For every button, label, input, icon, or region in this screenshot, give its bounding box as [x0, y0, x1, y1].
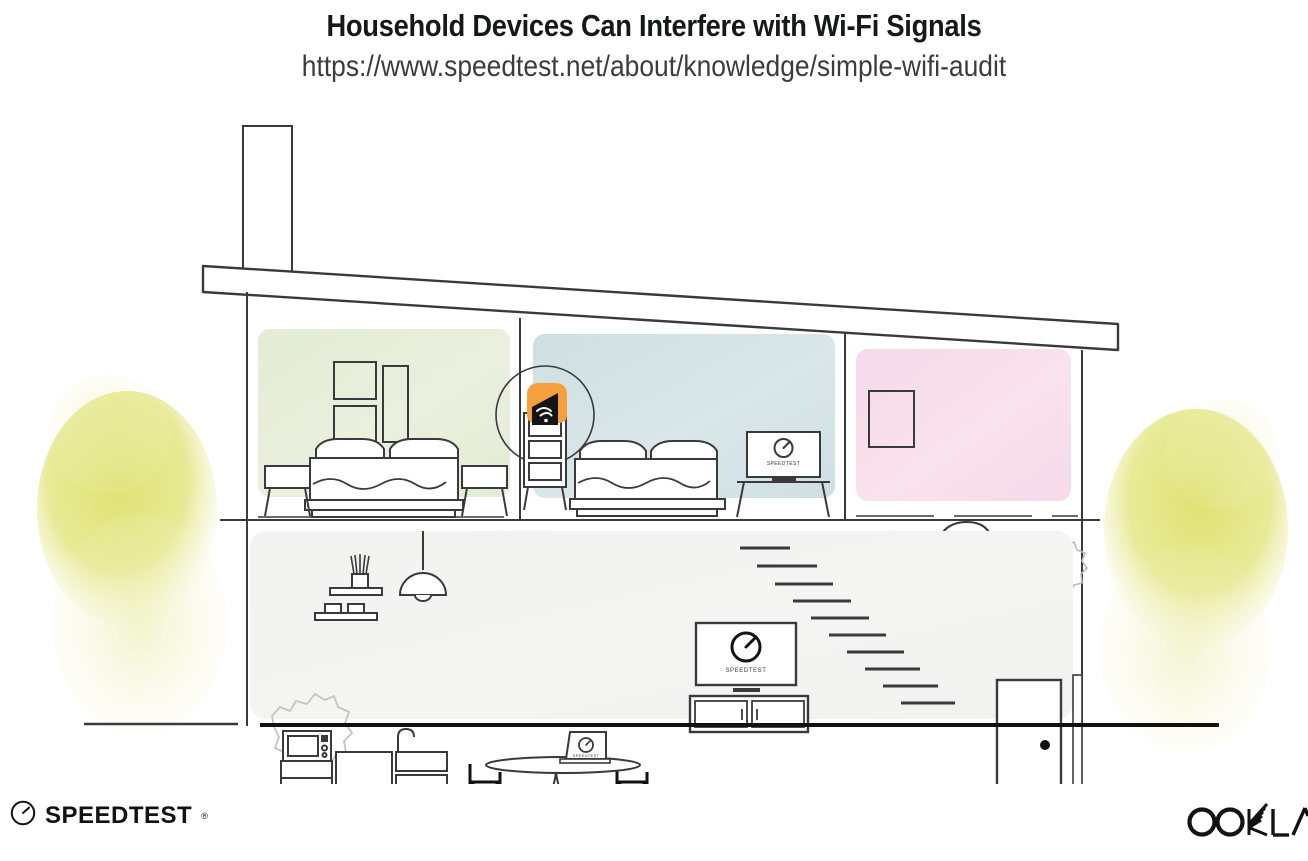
footer: SPEEDTEST ® — [0, 786, 1308, 856]
speedtest-logo[interactable]: SPEEDTEST ® — [10, 800, 208, 831]
bed-left — [305, 439, 463, 517]
foliage-left — [37, 374, 228, 734]
header: Household Devices Can Interfere with Wi-… — [0, 0, 1308, 84]
laptop[interactable]: SPEEDTEST — [560, 732, 610, 763]
laptop-screen-label: SPEEDTEST — [573, 753, 600, 758]
monitor-screen-label: SPEEDTEST — [767, 461, 800, 467]
infographic-page: Household Devices Can Interfere with Wi-… — [0, 0, 1308, 861]
room-nursery — [856, 349, 1071, 501]
house-illustration: SPEEDTEST — [0, 104, 1308, 784]
tv-screen-label: SPEEDTEST — [725, 668, 766, 674]
microwave — [283, 731, 331, 761]
trademark-symbol: ® — [201, 811, 208, 821]
kitchen-sink-faucet — [398, 729, 414, 752]
foliage-right — [1099, 398, 1288, 753]
television: SPEEDTEST — [696, 623, 796, 692]
desk-with-monitor: SPEEDTEST — [737, 432, 830, 517]
page-title: Household Devices Can Interfere with Wi-… — [78, 8, 1229, 44]
room-ground-floor — [250, 531, 1073, 719]
ookla-logo[interactable] — [1181, 798, 1308, 847]
source-url[interactable]: https://www.speedtest.net/about/knowledg… — [78, 50, 1229, 85]
window-strip — [1073, 675, 1082, 784]
speedometer-icon — [10, 800, 36, 831]
chimney — [243, 126, 292, 286]
front-door[interactable] — [997, 680, 1061, 784]
wifi-router-icon[interactable] — [527, 383, 567, 425]
speedtest-wordmark: SPEEDTEST — [45, 802, 192, 830]
door-knob-icon — [1040, 740, 1050, 750]
